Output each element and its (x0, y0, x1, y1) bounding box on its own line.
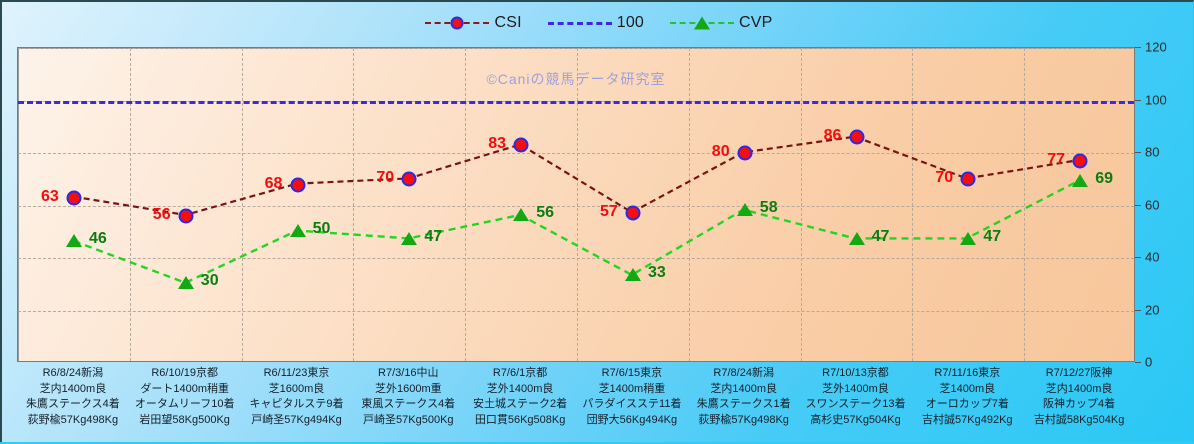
data-point-cvp[interactable] (178, 276, 194, 289)
x-label-line: 戸崎圣57Kg494Kg (249, 413, 343, 429)
data-point-cvp[interactable] (290, 224, 306, 237)
x-label-line: 高杉史57Kg504Kg (805, 413, 905, 429)
data-label-csi: 56 (153, 206, 171, 224)
x-label-line: R7/12/27阪神 (1034, 366, 1125, 382)
series-line-cvp (74, 181, 1078, 283)
x-label-line: 朱鷹ステークス1着 (697, 397, 791, 413)
x-axis-label: R6/11/23東京芝1600m良キャピタルステ9着戸崎圣57Kg494Kg (249, 366, 343, 428)
x-label-line: R7/3/16中山 (361, 366, 455, 382)
x-label-line: 阪神カップ4着 (1034, 397, 1125, 413)
x-label-line: R6/10/19京都 (135, 366, 235, 382)
y-tick-mark (1135, 257, 1141, 258)
y-tick-label: 120 (1145, 40, 1167, 55)
chart-legend: CSI 100 CVP (2, 10, 1194, 36)
data-label-cvp: 58 (760, 199, 778, 217)
data-point-cvp[interactable] (66, 234, 82, 247)
x-label-line: 田口貫56Kg508Kg (473, 413, 567, 429)
y-tick-label: 80 (1145, 145, 1159, 160)
x-axis-label: R7/6/15東京芝1400m稍重パラダイスステ11着団野大56Kg494Kg (582, 366, 681, 428)
x-label-line: 荻野楡57Kg498Kg (697, 413, 791, 429)
data-point-csi[interactable] (66, 190, 81, 205)
y-tick-label: 100 (1145, 92, 1167, 107)
data-label-cvp: 56 (536, 204, 554, 222)
triangle-marker-icon (694, 17, 710, 30)
y-tick-mark (1135, 362, 1141, 363)
data-point-csi[interactable] (178, 209, 193, 224)
x-axis-label: R7/3/16中山芝外1600m重東風ステークス4着戸崎圣57Kg500Kg (361, 366, 455, 428)
data-label-csi: 63 (41, 188, 59, 206)
x-label-line: R6/11/23東京 (249, 366, 343, 382)
data-label-cvp: 47 (424, 228, 442, 246)
data-point-csi[interactable] (737, 146, 752, 161)
data-point-cvp[interactable] (625, 268, 641, 281)
x-label-line: 吉村誠57Kg492Kg (922, 413, 1013, 429)
x-label-line: R7/11/16東京 (922, 366, 1013, 382)
y-tick-label: 0 (1145, 355, 1152, 370)
y-tick-mark (1135, 310, 1141, 311)
legend-label-cvp: CVP (739, 14, 773, 32)
x-axis-label: R6/10/19京都ダート1400m稍重オータムリーフ10着岩田望58Kg500… (135, 366, 235, 428)
legend-line-cvp (670, 16, 734, 30)
x-label-line: ダート1400m稍重 (135, 382, 235, 398)
circle-marker-icon (451, 17, 464, 30)
series-lines (18, 48, 1134, 361)
x-label-line: スワンステーク13着 (805, 397, 905, 413)
x-label-line: 朱鷹ステークス4着 (26, 397, 120, 413)
x-label-line: パラダイスステ11着 (582, 397, 681, 413)
x-label-line: 芝内1400m良 (697, 382, 791, 398)
chart-root: CSI 100 CVP ©Caniの競馬データ研究室 6356687083578… (0, 0, 1194, 442)
x-label-line: 芝外1600m重 (361, 382, 455, 398)
x-axis-label: R6/8/24新潟芝内1400m良朱鷹ステークス4着荻野楡57Kg498Kg (26, 366, 120, 428)
data-label-cvp: 33 (648, 264, 666, 282)
y-axis: 020406080100120 (1135, 47, 1193, 362)
data-point-csi[interactable] (402, 172, 417, 187)
data-label-cvp: 47 (872, 228, 890, 246)
y-tick-label: 20 (1145, 302, 1159, 317)
y-tick-mark (1135, 205, 1141, 206)
data-point-cvp[interactable] (849, 232, 865, 245)
x-label-line: 東風ステークス4着 (361, 397, 455, 413)
x-label-line: 団野大56Kg494Kg (582, 413, 681, 429)
data-label-csi: 70 (935, 169, 953, 187)
x-axis-label: R7/8/24新潟芝内1400m良朱鷹ステークス1着荻野楡57Kg498Kg (697, 366, 791, 428)
legend-item-100[interactable]: 100 (548, 14, 644, 32)
legend-line-csi (425, 16, 489, 30)
y-tick-mark (1135, 152, 1141, 153)
x-label-line: R7/10/13京都 (805, 366, 905, 382)
legend-label-100: 100 (617, 14, 644, 32)
data-label-cvp: 46 (89, 230, 107, 248)
data-point-cvp[interactable] (1072, 174, 1088, 187)
legend-label-csi: CSI (494, 14, 521, 32)
x-label-line: 芝外1400m良 (473, 382, 567, 398)
x-label-line: R7/8/24新潟 (697, 366, 791, 382)
series-line-csi (74, 137, 1078, 215)
x-axis-labels: R6/8/24新潟芝内1400m良朱鷹ステークス4着荻野楡57Kg498KgR6… (17, 366, 1135, 444)
x-label-line: オータムリーフ10着 (135, 397, 235, 413)
x-label-line: 芝1400m良 (922, 382, 1013, 398)
data-label-csi: 70 (376, 169, 394, 187)
data-point-csi[interactable] (961, 172, 976, 187)
x-label-line: 芝1400m稍重 (582, 382, 681, 398)
data-point-csi[interactable] (849, 130, 864, 145)
x-axis-label: R7/11/16東京芝1400m良オーロカップ7着吉村誠57Kg492Kg (922, 366, 1013, 428)
x-label-line: 芝内1400m良 (1034, 382, 1125, 398)
x-label-line: 芝1600m良 (249, 382, 343, 398)
data-point-csi[interactable] (514, 138, 529, 153)
data-label-csi: 83 (488, 135, 506, 153)
data-label-csi: 86 (824, 127, 842, 145)
x-axis-label: R7/10/13京都芝外1400m良スワンステーク13着高杉史57Kg504Kg (805, 366, 905, 428)
x-axis-label: R7/6/1京都芝外1400m良安土城ステーク2着田口貫56Kg508Kg (473, 366, 567, 428)
y-tick-label: 60 (1145, 197, 1159, 212)
x-label-line: R6/8/24新潟 (26, 366, 120, 382)
legend-item-cvp[interactable]: CVP (670, 14, 773, 32)
data-point-csi[interactable] (1073, 153, 1088, 168)
x-label-line: 岩田望58Kg500Kg (135, 413, 235, 429)
data-point-cvp[interactable] (960, 232, 976, 245)
data-point-cvp[interactable] (513, 208, 529, 221)
x-label-line: 吉村誠58Kg504Kg (1034, 413, 1125, 429)
legend-line-100 (548, 16, 612, 30)
legend-item-csi[interactable]: CSI (425, 14, 521, 32)
data-label-cvp: 69 (1095, 170, 1113, 188)
y-tick-mark (1135, 100, 1141, 101)
data-label-csi: 77 (1047, 151, 1065, 169)
x-axis-label: R7/12/27阪神芝内1400m良阪神カップ4着吉村誠58Kg504Kg (1034, 366, 1125, 428)
data-label-csi: 80 (712, 143, 730, 161)
data-point-cvp[interactable] (737, 203, 753, 216)
x-label-line: オーロカップ7着 (922, 397, 1013, 413)
y-tick-label: 40 (1145, 250, 1159, 265)
data-point-csi[interactable] (290, 177, 305, 192)
y-tick-mark (1135, 47, 1141, 48)
x-label-line: 戸崎圣57Kg500Kg (361, 413, 455, 429)
data-point-csi[interactable] (625, 206, 640, 221)
x-label-line: 安土城ステーク2着 (473, 397, 567, 413)
data-label-csi: 57 (600, 203, 618, 221)
data-label-csi: 68 (265, 175, 283, 193)
x-label-line: 芝内1400m良 (26, 382, 120, 398)
data-label-cvp: 47 (983, 228, 1001, 246)
data-label-cvp: 50 (313, 220, 331, 238)
x-label-line: 荻野楡57Kg498Kg (26, 413, 120, 429)
x-label-line: R7/6/15東京 (582, 366, 681, 382)
x-label-line: R7/6/1京都 (473, 366, 567, 382)
data-label-cvp: 30 (201, 272, 219, 290)
plot-area: ©Caniの競馬データ研究室 6356687083578086707746305… (17, 47, 1135, 362)
x-label-line: 芝外1400m良 (805, 382, 905, 398)
data-point-cvp[interactable] (401, 232, 417, 245)
x-label-line: キャピタルステ9着 (249, 397, 343, 413)
